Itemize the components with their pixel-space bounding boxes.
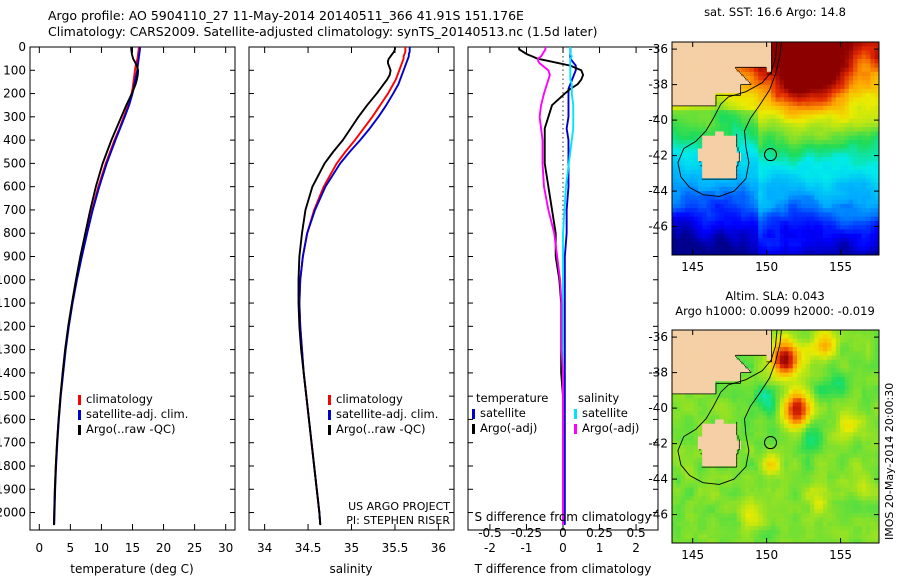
map-cell bbox=[788, 364, 793, 369]
map-cell bbox=[685, 208, 690, 213]
map-cell bbox=[780, 466, 785, 471]
map-cell bbox=[823, 242, 828, 247]
map-cell bbox=[715, 131, 720, 136]
map-cell bbox=[784, 187, 789, 192]
map-cell bbox=[724, 114, 729, 119]
map-cell bbox=[853, 89, 858, 94]
map-cell bbox=[793, 339, 798, 344]
map-cell bbox=[832, 526, 837, 531]
map-cell bbox=[853, 85, 858, 90]
map-cell bbox=[823, 373, 828, 378]
map-cell bbox=[810, 119, 815, 124]
map-cell bbox=[685, 89, 690, 94]
map-cell bbox=[672, 381, 677, 386]
map-cell bbox=[750, 187, 755, 192]
map-cell bbox=[862, 351, 867, 356]
map-cell bbox=[806, 51, 811, 56]
map-cell bbox=[698, 360, 703, 365]
map-cell bbox=[853, 55, 858, 60]
map-cell bbox=[832, 530, 837, 535]
map-cell bbox=[685, 483, 690, 488]
map-cell bbox=[694, 97, 699, 102]
map-cell bbox=[866, 51, 871, 56]
map-cell bbox=[840, 449, 845, 454]
map-cell bbox=[698, 402, 703, 407]
map-cell bbox=[694, 89, 699, 94]
map-cell bbox=[793, 368, 798, 373]
map-cell bbox=[737, 471, 742, 476]
map-cell bbox=[758, 381, 763, 386]
map-cell bbox=[862, 441, 867, 446]
map-cell bbox=[707, 51, 712, 56]
map-cell bbox=[823, 343, 828, 348]
map-cell bbox=[849, 106, 854, 111]
map-cell bbox=[853, 356, 858, 361]
map-cell bbox=[840, 51, 845, 56]
map-cell bbox=[737, 51, 742, 56]
map-cell bbox=[806, 200, 811, 205]
map-cell bbox=[853, 80, 858, 85]
map-cell bbox=[836, 170, 841, 175]
map-cell bbox=[845, 385, 850, 390]
map-cell bbox=[840, 471, 845, 476]
map-cell bbox=[862, 530, 867, 535]
map-cell bbox=[866, 161, 871, 166]
map-cell bbox=[754, 200, 759, 205]
map-cell bbox=[857, 204, 862, 209]
map-cell bbox=[784, 242, 789, 247]
map-cell bbox=[698, 63, 703, 68]
map-cell bbox=[827, 68, 832, 73]
map-cell bbox=[823, 334, 828, 339]
map-cell bbox=[849, 500, 854, 505]
map-cell bbox=[702, 42, 707, 47]
map-cell bbox=[788, 373, 793, 378]
map-cell bbox=[827, 500, 832, 505]
map-cell bbox=[707, 347, 712, 352]
map-cell bbox=[732, 445, 737, 450]
map-cell bbox=[750, 526, 755, 531]
map-cell bbox=[810, 454, 815, 459]
map-cell bbox=[819, 229, 824, 234]
map-cell bbox=[689, 479, 694, 484]
map-cell bbox=[806, 63, 811, 68]
map-cell bbox=[866, 93, 871, 98]
map-cell bbox=[814, 166, 819, 171]
map-cell bbox=[866, 415, 871, 420]
map-cell bbox=[862, 63, 867, 68]
map-cell bbox=[840, 72, 845, 77]
map-cell bbox=[827, 390, 832, 395]
map-cell bbox=[728, 449, 733, 454]
map-cell bbox=[793, 509, 798, 514]
map-cell bbox=[845, 339, 850, 344]
map-cell bbox=[788, 212, 793, 217]
map-cell bbox=[845, 526, 850, 531]
map-cell bbox=[767, 217, 772, 222]
map-cell bbox=[793, 191, 798, 196]
map-cell bbox=[694, 68, 699, 73]
map-cell bbox=[737, 195, 742, 200]
map-cell bbox=[840, 89, 845, 94]
map-cell bbox=[728, 76, 733, 81]
map-cell bbox=[806, 334, 811, 339]
map-cell bbox=[728, 110, 733, 115]
map-cell bbox=[870, 488, 875, 493]
map-cell bbox=[676, 492, 681, 497]
map-cell bbox=[788, 334, 793, 339]
map-cell bbox=[702, 441, 707, 446]
map-cell bbox=[819, 200, 824, 205]
map-cell bbox=[702, 80, 707, 85]
map-cell bbox=[819, 402, 824, 407]
map-cell bbox=[745, 394, 750, 399]
map-cell bbox=[676, 500, 681, 505]
map-cell bbox=[732, 217, 737, 222]
map-cell bbox=[689, 166, 694, 171]
map-cell bbox=[819, 351, 824, 356]
map-cell bbox=[801, 500, 806, 505]
map-cell bbox=[685, 204, 690, 209]
map-cell bbox=[728, 526, 733, 531]
map-cell bbox=[870, 437, 875, 442]
map-cell bbox=[776, 195, 781, 200]
map-cell bbox=[741, 191, 746, 196]
map-cell bbox=[819, 385, 824, 390]
map-cell bbox=[689, 178, 694, 183]
map-cell bbox=[819, 234, 824, 239]
map-cell bbox=[771, 390, 776, 395]
map-cell bbox=[832, 187, 837, 192]
map-cell bbox=[711, 415, 716, 420]
map-cell bbox=[866, 42, 871, 47]
map-cell bbox=[814, 432, 819, 437]
map-cell bbox=[819, 411, 824, 416]
map-cell bbox=[853, 157, 858, 162]
map-cell bbox=[793, 195, 798, 200]
map-cell bbox=[719, 187, 724, 192]
map-cell bbox=[672, 42, 677, 47]
map-cell bbox=[823, 390, 828, 395]
map-cell bbox=[758, 149, 763, 154]
map-cell bbox=[702, 242, 707, 247]
map-cell bbox=[862, 411, 867, 416]
map-cell bbox=[819, 445, 824, 450]
map-cell bbox=[827, 419, 832, 424]
map-cell bbox=[728, 63, 733, 68]
map-cell bbox=[702, 221, 707, 226]
map-cell bbox=[724, 471, 729, 476]
map-cell bbox=[832, 89, 837, 94]
map-cell bbox=[698, 500, 703, 505]
map-cell bbox=[801, 368, 806, 373]
map-cell bbox=[866, 364, 871, 369]
map-cell bbox=[853, 76, 858, 81]
map-cell bbox=[823, 415, 828, 420]
map-cell bbox=[745, 85, 750, 90]
map-cell bbox=[784, 114, 789, 119]
map-cell bbox=[758, 127, 763, 132]
map-cell bbox=[827, 157, 832, 162]
map-cell bbox=[827, 153, 832, 158]
map-cell bbox=[719, 89, 724, 94]
map-cell bbox=[845, 492, 850, 497]
map-cell bbox=[806, 110, 811, 115]
map-cell bbox=[862, 471, 867, 476]
map-cell bbox=[750, 534, 755, 539]
map-cell bbox=[801, 225, 806, 230]
map-cell bbox=[857, 415, 862, 420]
map-cell bbox=[719, 445, 724, 450]
map-cell bbox=[750, 191, 755, 196]
map-cell bbox=[793, 402, 798, 407]
map-cell bbox=[840, 517, 845, 522]
map-cell bbox=[862, 522, 867, 527]
map-cell bbox=[823, 170, 828, 175]
map-cell bbox=[862, 114, 867, 119]
map-cell bbox=[814, 513, 819, 518]
map-cell bbox=[806, 136, 811, 141]
map-cell bbox=[814, 505, 819, 510]
map-cell bbox=[801, 492, 806, 497]
map-cell bbox=[698, 97, 703, 102]
map-cell bbox=[845, 488, 850, 493]
map-cell bbox=[870, 339, 875, 344]
map-cell bbox=[676, 76, 681, 81]
map-cell bbox=[806, 166, 811, 171]
map-cell bbox=[689, 59, 694, 64]
map-cell bbox=[836, 153, 841, 158]
map-cell bbox=[728, 505, 733, 510]
map-cell bbox=[857, 110, 862, 115]
map-cell bbox=[823, 360, 828, 365]
map-cell bbox=[849, 407, 854, 412]
map-cell bbox=[732, 149, 737, 154]
map-cell bbox=[819, 119, 824, 124]
map-cell bbox=[728, 334, 733, 339]
map-cell bbox=[776, 505, 781, 510]
map-cell bbox=[827, 221, 832, 226]
map-cell bbox=[694, 93, 699, 98]
map-cell bbox=[767, 166, 772, 171]
map-cell bbox=[806, 330, 811, 335]
map-cell bbox=[853, 466, 858, 471]
map-cell bbox=[711, 200, 716, 205]
map-cell bbox=[806, 419, 811, 424]
map-cell bbox=[711, 59, 716, 64]
map-cell bbox=[685, 195, 690, 200]
map-cell bbox=[719, 131, 724, 136]
map-cell bbox=[793, 238, 798, 243]
map-cell bbox=[840, 187, 845, 192]
map-cell bbox=[780, 407, 785, 412]
map-cell bbox=[819, 458, 824, 463]
map-cell bbox=[857, 131, 862, 136]
map-cell bbox=[676, 411, 681, 416]
map-cell bbox=[767, 63, 772, 68]
map-cell bbox=[672, 149, 677, 154]
map-cell bbox=[724, 131, 729, 136]
map-cell bbox=[719, 170, 724, 175]
map-cell bbox=[771, 471, 776, 476]
map-cell bbox=[806, 149, 811, 154]
map-cell bbox=[840, 509, 845, 514]
map-cell bbox=[737, 229, 742, 234]
map-cell bbox=[707, 381, 712, 386]
map-cell bbox=[845, 97, 850, 102]
map-cell bbox=[676, 385, 681, 390]
map-cell bbox=[801, 509, 806, 514]
map-cell bbox=[827, 170, 832, 175]
map-cell bbox=[853, 93, 858, 98]
map-cell bbox=[754, 330, 759, 335]
map-cell bbox=[870, 385, 875, 390]
map-cell bbox=[672, 483, 677, 488]
map-cell bbox=[763, 339, 768, 344]
map-cell bbox=[745, 347, 750, 352]
legend-label: Argo(..raw -QC) bbox=[86, 422, 176, 436]
map-cell bbox=[702, 402, 707, 407]
map-cell bbox=[694, 449, 699, 454]
map-cell bbox=[853, 200, 858, 205]
map-cell bbox=[767, 441, 772, 446]
map-cell bbox=[732, 517, 737, 522]
map-cell bbox=[694, 368, 699, 373]
map-cell bbox=[767, 183, 772, 188]
map-cell bbox=[870, 208, 875, 213]
map-cell bbox=[823, 144, 828, 149]
map-cell bbox=[724, 509, 729, 514]
map-cell bbox=[754, 221, 759, 226]
map-cell bbox=[758, 479, 763, 484]
map-cell bbox=[767, 114, 772, 119]
map-cell bbox=[737, 530, 742, 535]
map-cell bbox=[685, 217, 690, 222]
map-cell bbox=[827, 234, 832, 239]
map-cell bbox=[776, 522, 781, 527]
map-cell bbox=[862, 97, 867, 102]
map-cell bbox=[737, 144, 742, 149]
map-cell bbox=[780, 195, 785, 200]
map-cell bbox=[832, 513, 837, 518]
map-cell bbox=[750, 144, 755, 149]
map-cell bbox=[870, 449, 875, 454]
map-cell bbox=[694, 377, 699, 382]
map-cell bbox=[832, 246, 837, 251]
map-cell bbox=[737, 102, 742, 107]
map-cell bbox=[724, 437, 729, 442]
map-cell bbox=[862, 454, 867, 459]
map-cell bbox=[801, 212, 806, 217]
map-cell bbox=[810, 208, 815, 213]
map-cell bbox=[793, 394, 798, 399]
map-cell bbox=[763, 85, 768, 90]
map-cell bbox=[698, 351, 703, 356]
map-cell bbox=[784, 89, 789, 94]
map-cell bbox=[853, 496, 858, 501]
map-cell bbox=[758, 166, 763, 171]
map-cell bbox=[707, 454, 712, 459]
map-cell bbox=[788, 517, 793, 522]
map-cell bbox=[853, 131, 858, 136]
map-cell bbox=[827, 187, 832, 192]
map-cell bbox=[870, 424, 875, 429]
map-cell bbox=[698, 127, 703, 132]
map-cell bbox=[694, 454, 699, 459]
map-cell bbox=[784, 229, 789, 234]
map-cell bbox=[780, 191, 785, 196]
map-cell bbox=[823, 140, 828, 145]
map-cell bbox=[681, 76, 686, 81]
map-cell bbox=[827, 517, 832, 522]
map-cell bbox=[681, 351, 686, 356]
map-cell bbox=[776, 458, 781, 463]
map-cell bbox=[806, 454, 811, 459]
map-cell bbox=[788, 63, 793, 68]
map-cell bbox=[780, 76, 785, 81]
map-cell bbox=[866, 72, 871, 77]
map-cell bbox=[866, 462, 871, 467]
map-cell bbox=[814, 479, 819, 484]
map-cell bbox=[866, 458, 871, 463]
map-cell bbox=[849, 46, 854, 51]
map-cell bbox=[750, 330, 755, 335]
map-cell bbox=[763, 428, 768, 433]
map-cell bbox=[750, 398, 755, 403]
map-cell bbox=[728, 187, 733, 192]
map-cell bbox=[702, 136, 707, 141]
axis-tick-label: 10 bbox=[94, 541, 109, 555]
map-cell bbox=[857, 93, 862, 98]
map-cell bbox=[728, 72, 733, 77]
map-cell bbox=[767, 46, 772, 51]
map-cell bbox=[767, 161, 772, 166]
map-cell bbox=[694, 229, 699, 234]
map-cell bbox=[776, 93, 781, 98]
map-cell bbox=[676, 187, 681, 192]
map-cell bbox=[758, 131, 763, 136]
map-cell bbox=[681, 63, 686, 68]
map-cell bbox=[711, 488, 716, 493]
map-cell bbox=[840, 424, 845, 429]
map-cell bbox=[827, 93, 832, 98]
map-cell bbox=[780, 131, 785, 136]
map-cell bbox=[862, 462, 867, 467]
map-cell bbox=[698, 381, 703, 386]
map-cell bbox=[788, 445, 793, 450]
map-cell bbox=[685, 411, 690, 416]
map-cell bbox=[832, 483, 837, 488]
map-cell bbox=[754, 428, 759, 433]
map-cell bbox=[845, 46, 850, 51]
map-cell bbox=[702, 234, 707, 239]
map-cell bbox=[870, 462, 875, 467]
map-cell bbox=[767, 458, 772, 463]
map-cell bbox=[819, 46, 824, 51]
map-cell bbox=[724, 424, 729, 429]
map-cell bbox=[853, 234, 858, 239]
map-cell bbox=[866, 225, 871, 230]
map-cell bbox=[745, 242, 750, 247]
map-cell bbox=[681, 522, 686, 527]
map-cell bbox=[758, 441, 763, 446]
map-cell bbox=[776, 466, 781, 471]
map-cell bbox=[810, 166, 815, 171]
map-cell bbox=[832, 76, 837, 81]
map-cell bbox=[857, 351, 862, 356]
map-cell bbox=[681, 419, 686, 424]
map-cell bbox=[862, 183, 867, 188]
